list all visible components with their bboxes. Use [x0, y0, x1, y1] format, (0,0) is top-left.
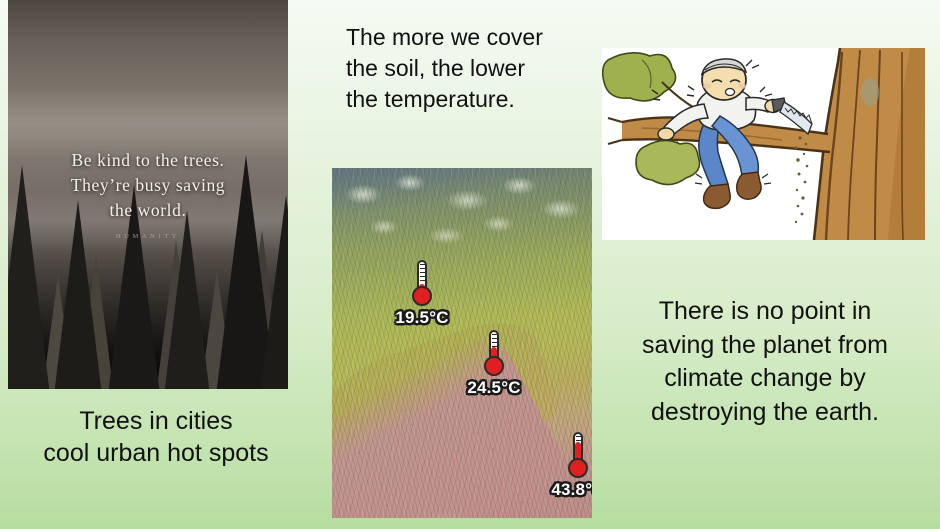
thermometer-marker-3: 43.8°C — [536, 432, 592, 500]
caption-right-line-1: There is no point in — [604, 295, 926, 329]
caption-no-point-saving-planet: There is no point in saving the planet f… — [604, 295, 926, 429]
caption-trees-in-cities: Trees in cities cool urban hot spots — [6, 405, 306, 469]
thermometer-reading-2: 24.5°C — [452, 378, 536, 398]
forest-quote-text: Be kind to the trees. They’re busy savin… — [8, 148, 288, 223]
caption-right-line-2: saving the planet from — [604, 329, 926, 363]
thermometer-icon — [568, 432, 588, 478]
thermometer-icon — [484, 330, 504, 376]
heading-soil-line-3: the temperature. — [346, 84, 576, 115]
heading-soil-cover: The more we cover the soil, the lower th… — [346, 22, 576, 115]
forest-quote-line-3: the world. — [8, 198, 288, 223]
tree-silhouette — [260, 195, 288, 389]
cartoon-illustration — [602, 48, 925, 240]
slide-canvas: Be kind to the trees. They’re busy savin… — [0, 0, 940, 529]
caption-right-line-3: climate change by — [604, 362, 926, 396]
caption-right-line-4: destroying the earth. — [604, 396, 926, 430]
caption-left-line-2: cool urban hot spots — [6, 437, 306, 469]
thermometer-reading-1: 19.5°C — [380, 308, 464, 328]
soil-temperature-photo: 19.5°C 24.5°C 43.8°C — [332, 168, 592, 518]
man-sawing-branch-cartoon — [602, 48, 925, 240]
caption-left-line-1: Trees in cities — [6, 405, 306, 437]
thermometer-reading-3: 43.8°C — [536, 480, 592, 500]
heading-soil-line-2: the soil, the lower — [346, 53, 576, 84]
thermometer-marker-1: 19.5°C — [380, 260, 464, 328]
heading-soil-line-1: The more we cover — [346, 22, 576, 53]
forest-quote-line-1: Be kind to the trees. — [8, 148, 288, 173]
forest-photo: Be kind to the trees. They’re busy savin… — [8, 0, 288, 389]
thermometer-icon — [412, 260, 432, 306]
thermometer-marker-2: 24.5°C — [452, 330, 536, 398]
forest-quote-line-2: They’re busy saving — [8, 173, 288, 198]
forest-quote-attribution: HUMANITY — [8, 233, 288, 240]
tree-silhouette — [54, 200, 102, 389]
